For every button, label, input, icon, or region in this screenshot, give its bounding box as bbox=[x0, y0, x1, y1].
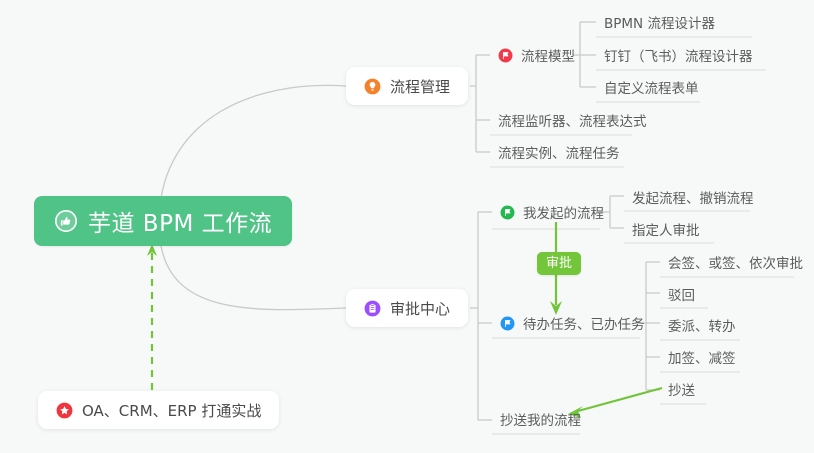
annotation-arrow-dashed bbox=[147, 244, 157, 390]
node-countersign-orsign-sequential[interactable]: 会签、或签、依次审批 bbox=[660, 248, 811, 276]
node-custom-process-form[interactable]: 自定义流程表单 bbox=[596, 73, 707, 101]
node-label: 流程模型 bbox=[521, 45, 575, 65]
node-reject[interactable]: 驳回 bbox=[660, 280, 703, 308]
branch-label: 审批中心 bbox=[390, 298, 450, 319]
node-delegate-transfer[interactable]: 委派、转办 bbox=[660, 311, 744, 339]
flag-icon bbox=[498, 48, 513, 63]
lightbulb-icon bbox=[364, 78, 381, 95]
branch-process-management[interactable]: 流程管理 bbox=[346, 67, 468, 105]
node-start-cancel-process[interactable]: 发起流程、撤销流程 bbox=[624, 183, 762, 211]
node-carbon-copy[interactable]: 抄送 bbox=[660, 375, 703, 403]
bottom-callout-label: OA、CRM、ERP 打通实战 bbox=[82, 400, 261, 421]
root-node[interactable]: 芋道 BPM 工作流 bbox=[34, 196, 292, 246]
node-label: 我发起的流程 bbox=[523, 202, 604, 222]
node-todo-done-tasks[interactable]: 待办任务、已办任务 bbox=[492, 309, 653, 337]
star-icon bbox=[56, 402, 73, 419]
node-process-instance-task[interactable]: 流程实例、流程任务 bbox=[490, 138, 628, 166]
branch-approval-center[interactable]: 审批中心 bbox=[346, 289, 468, 327]
node-label: 待办任务、已办任务 bbox=[523, 313, 645, 333]
root-label: 芋道 BPM 工作流 bbox=[88, 204, 272, 238]
node-my-initiated-process[interactable]: 我发起的流程 bbox=[492, 198, 612, 226]
node-assignee-approval[interactable]: 指定人审批 bbox=[624, 215, 708, 243]
node-cc-to-me-process[interactable]: 抄送我的流程 bbox=[492, 405, 589, 433]
node-add-remove-sign[interactable]: 加签、减签 bbox=[660, 343, 744, 371]
mindmap-canvas: 芋道 BPM 工作流 流程管理 流程模型 BPMN 流程设计器 钉钉（飞书）流程… bbox=[0, 0, 814, 453]
approval-annotation-label: 审批 bbox=[546, 256, 572, 271]
clipboard-icon bbox=[364, 300, 381, 317]
thumbs-up-icon bbox=[54, 209, 78, 233]
node-process-model[interactable]: 流程模型 bbox=[490, 41, 583, 69]
node-process-listener-expression[interactable]: 流程监听器、流程表达式 bbox=[490, 106, 655, 134]
node-bpmn-designer[interactable]: BPMN 流程设计器 bbox=[596, 8, 723, 36]
flag-icon bbox=[500, 205, 515, 220]
bottom-callout-card[interactable]: OA、CRM、ERP 打通实战 bbox=[38, 391, 279, 429]
flag-icon bbox=[500, 316, 515, 331]
branch-label: 流程管理 bbox=[390, 76, 450, 97]
approval-annotation-badge: 审批 bbox=[537, 252, 581, 275]
node-dingtalk-feishu-designer[interactable]: 钉钉（飞书）流程设计器 bbox=[596, 41, 761, 69]
